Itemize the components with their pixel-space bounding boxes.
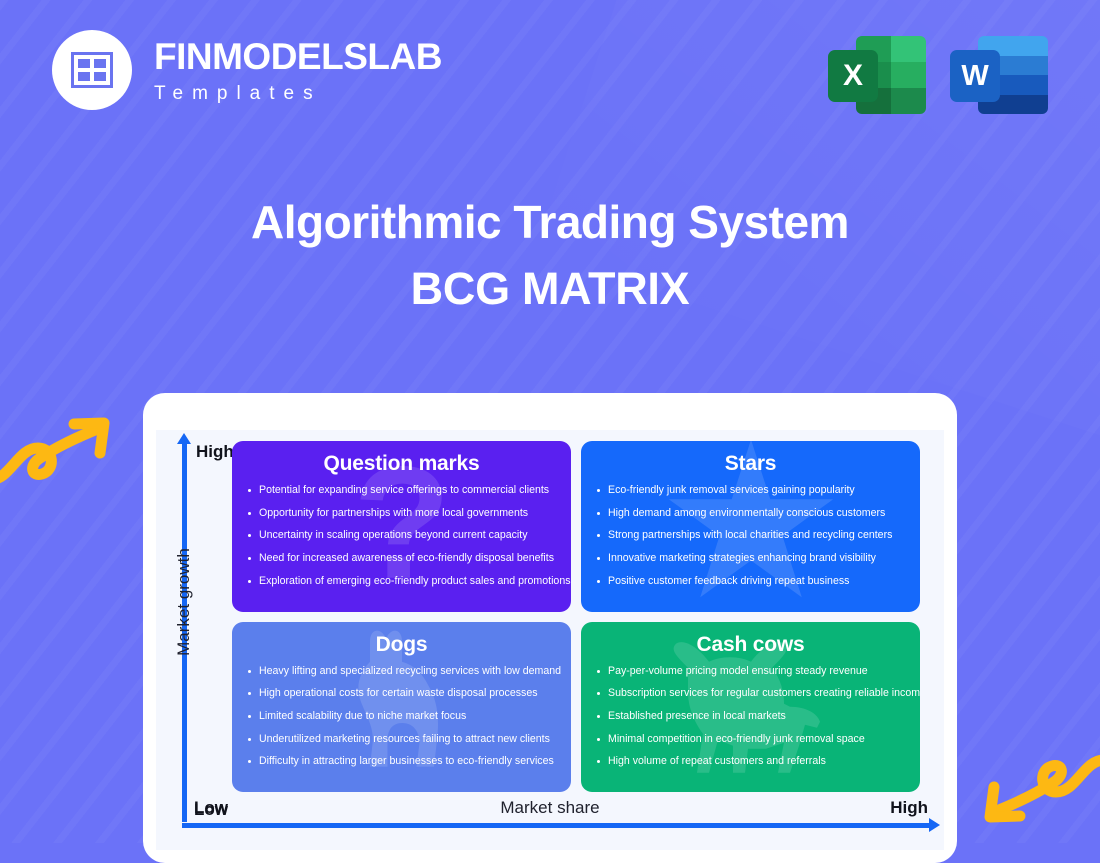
matrix-panel: High Low Market growth Low Market share … (156, 430, 944, 850)
quadrant-cash-cows[interactable]: Cash cows Pay-per-volume pricing model e… (581, 622, 920, 793)
list-item: High operational costs for certain waste… (246, 687, 557, 700)
quadrant-title: Question marks (246, 452, 557, 476)
squiggle-arrow-down-left-icon (966, 738, 1100, 838)
quadrant-stars[interactable]: Stars Eco-friendly junk removal services… (581, 441, 920, 612)
y-axis-title: Market growth (174, 532, 194, 672)
brand-logo (52, 30, 132, 110)
page-title: Algorithmic Trading System BCG MATRIX (0, 196, 1100, 315)
list-item: Minimal competition in eco-friendly junk… (595, 733, 906, 746)
brand-subtitle: Templates (154, 84, 442, 103)
brand-name: FINMODELSLAB (154, 38, 442, 75)
list-item: Need for increased awareness of eco-frie… (246, 552, 557, 565)
quadrant-question-marks[interactable]: ? Question marks Potential for expanding… (232, 441, 571, 612)
title-secondary: BCG MATRIX (0, 263, 1100, 315)
quadrant-bullet-list: Heavy lifting and specialized recycling … (246, 665, 557, 769)
title-primary: Algorithmic Trading System (0, 196, 1100, 249)
excel-letter: X (828, 50, 878, 102)
x-axis-title: Market share (156, 798, 944, 818)
x-axis-high-label: High (890, 798, 928, 818)
grid-icon (71, 52, 113, 88)
brand-header: FINMODELSLAB Templates (52, 30, 442, 110)
office-format-icons: X W (828, 32, 1050, 118)
list-item: High demand among environmentally consci… (595, 507, 906, 520)
list-item: Innovative marketing strategies enhancin… (595, 552, 906, 565)
list-item: Limited scalability due to niche market … (246, 710, 557, 723)
quadrant-grid: ? Question marks Potential for expanding… (232, 441, 920, 792)
word-icon[interactable]: W (950, 32, 1050, 118)
y-axis-high-label: High (196, 442, 234, 462)
word-letter: W (950, 50, 1000, 102)
list-item: Strong partnerships with local charities… (595, 529, 906, 542)
list-item: Positive customer feedback driving repea… (595, 575, 906, 588)
squiggle-arrow-up-right-icon (0, 408, 128, 503)
excel-icon[interactable]: X (828, 32, 928, 118)
list-item: Opportunity for partnerships with more l… (246, 507, 557, 520)
x-axis (182, 823, 930, 828)
list-item: Exploration of emerging eco-friendly pro… (246, 575, 557, 588)
list-item: Underutilized marketing resources failin… (246, 733, 557, 746)
list-item: Potential for expanding service offering… (246, 484, 557, 497)
list-item: Subscription services for regular custom… (595, 687, 906, 700)
quadrant-title: Cash cows (595, 633, 906, 657)
quadrant-bullet-list: Pay-per-volume pricing model ensuring st… (595, 665, 906, 769)
brand-text: FINMODELSLAB Templates (154, 38, 442, 103)
list-item: High volume of repeat customers and refe… (595, 755, 906, 768)
list-item: Eco-friendly junk removal services gaini… (595, 484, 906, 497)
list-item: Pay-per-volume pricing model ensuring st… (595, 665, 906, 678)
bcg-matrix-card: High Low Market growth Low Market share … (143, 393, 957, 863)
quadrant-bullet-list: Potential for expanding service offering… (246, 484, 557, 588)
quadrant-title: Dogs (246, 633, 557, 657)
list-item: Difficulty in attracting larger business… (246, 755, 557, 768)
list-item: Established presence in local markets (595, 710, 906, 723)
list-item: Heavy lifting and specialized recycling … (246, 665, 557, 678)
quadrant-bullet-list: Eco-friendly junk removal services gaini… (595, 484, 906, 588)
quadrant-dogs[interactable]: Dogs Heavy lifting and specialized recyc… (232, 622, 571, 793)
list-item: Uncertainty in scaling operations beyond… (246, 529, 557, 542)
quadrant-title: Stars (595, 452, 906, 476)
